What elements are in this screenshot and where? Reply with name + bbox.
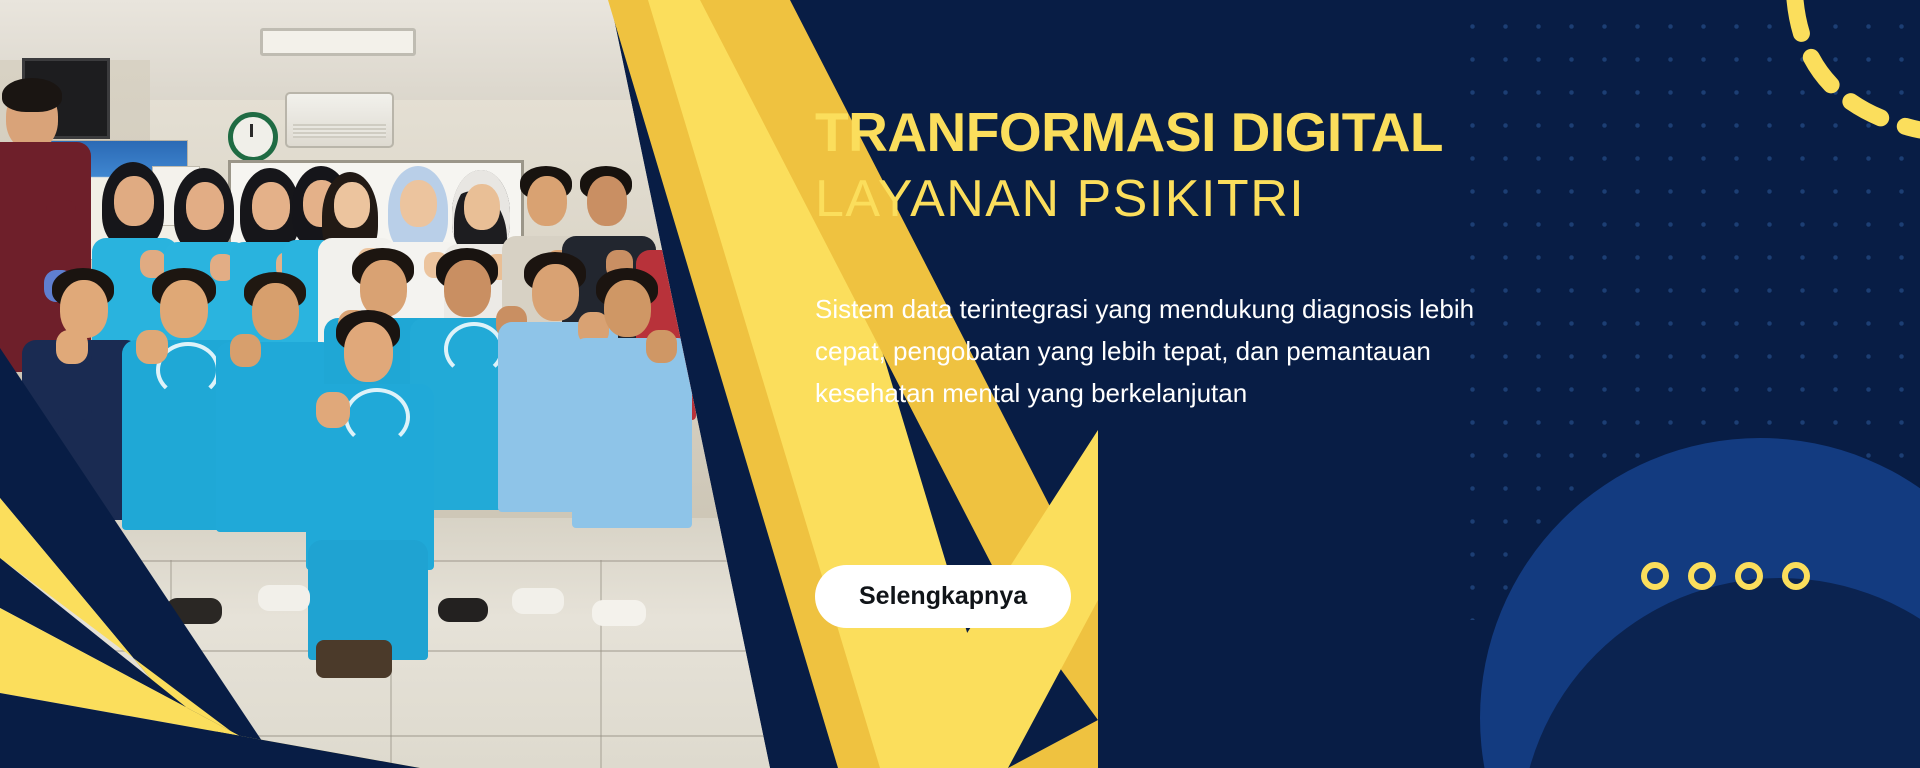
page-title: TRANFORMASI DIGITAL [815, 103, 1443, 161]
hero-text-block: TRANFORMASI DIGITAL LAYANAN PSIKITRI Sis… [815, 0, 1575, 768]
ring-icon [1735, 562, 1763, 590]
shoe [438, 598, 488, 622]
tile-line [600, 560, 602, 768]
ceiling-light [260, 28, 416, 56]
selengkapnya-button[interactable]: Selengkapnya [815, 565, 1071, 628]
ring-icon [1688, 562, 1716, 590]
hero-description: Sistem data terintegrasi yang mendukung … [815, 288, 1505, 414]
ring-decoration-group [1641, 562, 1810, 590]
shoe [592, 600, 646, 626]
hero-banner: TRANFORMASI DIGITAL LAYANAN PSIKITRI Sis… [0, 0, 1920, 768]
dashed-arc-path [1795, 0, 1920, 130]
dashed-arc-decoration [1590, 0, 1920, 240]
air-conditioner [285, 92, 394, 148]
ring-icon [1641, 562, 1669, 590]
wall-clock [228, 112, 278, 162]
ring-icon [1782, 562, 1810, 590]
hero-content-panel: TRANFORMASI DIGITAL LAYANAN PSIKITRI Sis… [770, 0, 1920, 768]
corner-fan-decoration [0, 348, 420, 768]
page-subtitle: LAYANAN PSIKITRI [815, 170, 1305, 228]
shoe [512, 588, 564, 614]
